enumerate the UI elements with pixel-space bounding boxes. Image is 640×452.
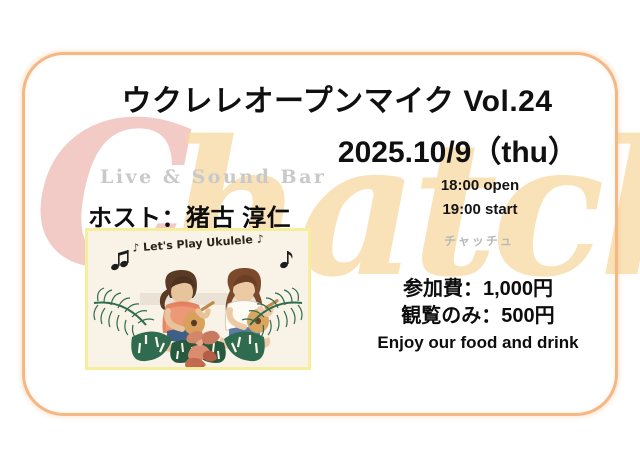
event-times: 18:00 open 19:00 start	[375, 174, 585, 222]
start-time: 19:00 start	[375, 198, 585, 222]
palm-frond-left	[94, 288, 154, 339]
monstera-leaf-right	[224, 331, 265, 361]
venue-tagline: Live & Sound Bar	[100, 166, 326, 188]
price-entry: 参加費：1,000円	[368, 276, 588, 303]
event-title-text: ウクレレオープンマイク Vol.24	[87, 85, 552, 118]
event-title: ウクレレオープンマイク Vol.24	[0, 76, 640, 120]
music-note-icon	[110, 250, 129, 271]
venue-name-katakana: チャッチュ	[374, 232, 584, 249]
ukulele-scene-svg	[88, 231, 308, 367]
flyer-canvas: C hatchu ウクレレオープンマイク Vol.24 2025.10/9（th…	[0, 0, 640, 452]
event-date: 2025.10/9（thu）	[338, 127, 578, 171]
food-note: Enjoy our food and drink	[368, 333, 588, 353]
price-viewing: 観覧のみ：500円	[368, 303, 588, 330]
monstera-leaf-left	[131, 331, 172, 361]
open-time: 18:00 open	[375, 174, 585, 198]
price-block: 参加費：1,000円 観覧のみ：500円 Enjoy our food and …	[368, 276, 588, 353]
music-note-icon-right	[279, 251, 292, 269]
ukulele-illustration-card: ♪ Let's Play Ukulele ♪	[85, 228, 311, 370]
